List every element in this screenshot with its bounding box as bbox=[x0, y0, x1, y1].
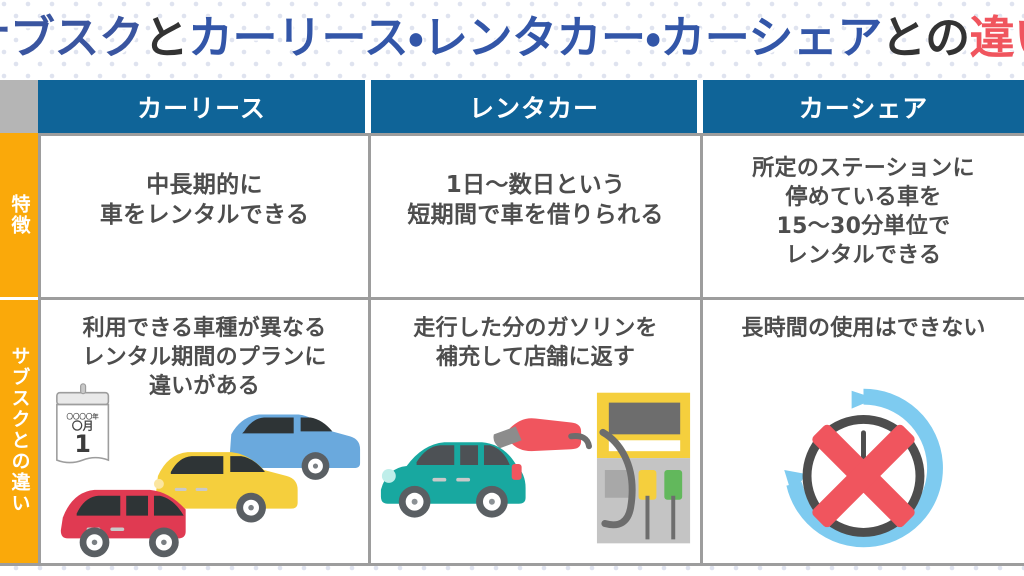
comparison-table: カーリース レンタカー カーシェア 特徴 中長期的に 車をレンタルできる 1日〜… bbox=[0, 80, 1024, 566]
title-segment-subsc: サブスク bbox=[0, 11, 143, 64]
cell-text: 走行した分のガソリンを 補充して店舗に返す bbox=[413, 314, 657, 372]
title-segment-difference: 違い bbox=[970, 11, 1024, 64]
gas-pump-icon bbox=[597, 393, 690, 544]
svg-text:1: 1 bbox=[74, 430, 91, 458]
illustration-clock-no-longtime bbox=[703, 378, 1024, 563]
table-row-features: 特徴 中長期的に 車をレンタルできる 1日〜数日という 短期間で車を借りられる … bbox=[0, 133, 1024, 297]
cell-features-rental-car: 1日〜数日という 短期間で車を借りられる bbox=[368, 133, 700, 297]
column-header-car-lease: カーリース bbox=[38, 80, 368, 133]
cell-difference-car-share: 長時間の使用はできない bbox=[700, 297, 1024, 563]
table-header-row: カーリース レンタカー カーシェア bbox=[0, 80, 1024, 133]
row-rail-features: 特徴 bbox=[0, 133, 38, 297]
table-row-difference: サブスクとの違い 利用できる車種が異なる レンタル期間のプランに 違いがある 〇… bbox=[0, 297, 1024, 563]
cell-difference-car-lease: 利用できる車種が異なる レンタル期間のプランに 違いがある 〇〇〇〇年 〇月 1 bbox=[38, 297, 368, 563]
column-header-car-share: カーシェア bbox=[700, 80, 1024, 133]
page-title: サブスクとカーリース・レンタカー・カーシェアとの違い bbox=[0, 15, 1024, 60]
illustration-three-cars-calendar: 〇〇〇〇年 〇月 1 bbox=[41, 378, 368, 563]
cell-text: 1日〜数日という 短期間で車を借りられる bbox=[407, 170, 663, 231]
title-segment-services: カーリース・レンタカー・カーシェア bbox=[188, 11, 881, 64]
row-rail-difference: サブスクとの違い bbox=[0, 297, 38, 563]
car-teal-icon bbox=[381, 442, 526, 517]
infographic-page: サブスクとカーリース・レンタカー・カーシェアとの違い カーリース レンタカー カ… bbox=[0, 0, 1024, 576]
cell-text: 所定のステーションに 停めている車を 15〜30分単位で レンタルできる bbox=[752, 154, 975, 270]
page-title-band: サブスクとカーリース・レンタカー・カーシェアとの違い bbox=[0, 0, 1024, 74]
row-rail-label-difference: サブスクとの違い bbox=[10, 346, 29, 514]
cell-text: 中長期的に 車をレンタルできる bbox=[100, 170, 309, 231]
row-rail-label-features: 特徴 bbox=[10, 194, 29, 236]
fuel-nozzle-icon bbox=[493, 418, 589, 451]
table-corner-cell bbox=[0, 80, 38, 133]
illustration-car-gas-pump bbox=[371, 378, 700, 563]
cell-difference-rental-car: 走行した分のガソリンを 補充して店舗に返す bbox=[368, 297, 700, 563]
title-segment-tono: との bbox=[881, 11, 970, 64]
calendar-icon: 〇〇〇〇年 〇月 1 bbox=[57, 384, 109, 463]
rail-divider bbox=[0, 297, 38, 300]
car-red-icon bbox=[61, 490, 186, 557]
cell-features-car-share: 所定のステーションに 停めている車を 15〜30分単位で レンタルできる bbox=[700, 133, 1024, 297]
column-header-rental-car: レンタカー bbox=[368, 80, 700, 133]
cell-features-car-lease: 中長期的に 車をレンタルできる bbox=[38, 133, 368, 297]
title-segment-to: と bbox=[143, 11, 188, 64]
cell-text: 長時間の使用はできない bbox=[741, 314, 985, 343]
